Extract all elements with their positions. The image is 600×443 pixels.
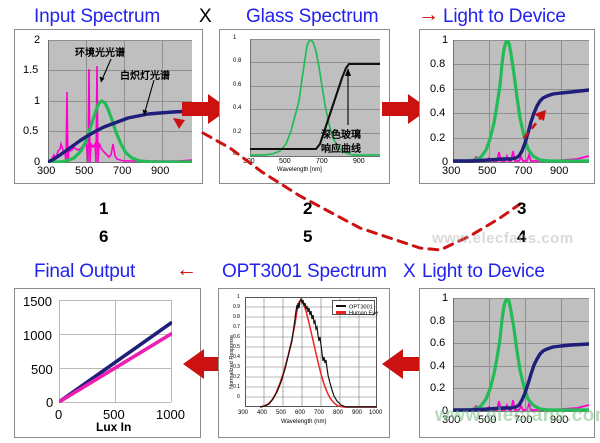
- watermark-bottom-right: www.elecfans.com: [435, 405, 600, 427]
- legend-label-human-eye: Human Eye: [349, 310, 378, 316]
- step-number-1: 1: [99, 199, 108, 219]
- ytick-final-1500: 1500: [23, 294, 52, 309]
- watermark-middle-right: www.elecfans.com: [432, 230, 574, 247]
- xaxis-label-opt3001: Wavelength (nm): [281, 419, 326, 425]
- ytick-ltd-bot-0p2: 0.2: [430, 382, 445, 394]
- xtick-opt-900: 900: [352, 410, 362, 416]
- xtick-opt-300: 300: [238, 410, 248, 416]
- ytick-opt-0p5: 0.5: [233, 344, 240, 350]
- step-number-5: 5: [303, 227, 312, 247]
- xtick-opt-600: 600: [295, 410, 305, 416]
- xtick-opt-800: 800: [333, 410, 343, 416]
- xtick-final-1000: 1000: [156, 407, 185, 422]
- ytick-ltd-bot-1: 1: [442, 292, 448, 304]
- ytick-opt-0p3: 0.3: [233, 364, 240, 370]
- ytick-opt-0p1: 0.1: [233, 384, 240, 390]
- ytick-final-0: 0: [46, 395, 53, 410]
- title-final-output: Final Output: [34, 261, 135, 283]
- ytick-ltd-bot-0p6: 0.6: [430, 337, 445, 349]
- yaxis-label-opt3001: Normalized Response: [229, 335, 235, 389]
- xtick-final-0: 0: [55, 407, 62, 422]
- ytick-opt-0p9: 0.9: [233, 304, 240, 310]
- operator-multiply-row2: X: [403, 261, 416, 283]
- ytick-opt-0p4: 0.4: [233, 354, 240, 360]
- xtick-opt-700: 700: [314, 410, 324, 416]
- chart-panel-opt3001-spectrum: OPT3001 Human Eye Normalized Response 1 …: [218, 288, 390, 438]
- step-number-2: 2: [303, 199, 312, 219]
- xaxis-label-final-output: Lux In: [96, 420, 131, 434]
- ytick-opt-0p8: 0.8: [233, 314, 240, 320]
- title-light-to-device-bottom: Light to Device: [422, 261, 545, 283]
- legend-opt3001: OPT3001 Human Eye: [332, 300, 375, 315]
- xtick-opt-400: 400: [257, 410, 267, 416]
- ytick-opt-0p7: 0.7: [233, 324, 240, 330]
- ytick-opt-0p6: 0.6: [233, 334, 240, 340]
- title-opt3001-spectrum: OPT3001 Spectrum: [222, 261, 387, 283]
- xtick-opt-1000: 1000: [369, 410, 382, 416]
- step-number-6: 6: [99, 227, 108, 247]
- operator-arrow-row2: ←: [176, 258, 197, 282]
- ytick-opt-1: 1: [237, 294, 240, 300]
- chart-panel-final-output: 1500 1000 500 0 0 500 1000 Lux In: [14, 288, 201, 438]
- ytick-final-500: 500: [31, 362, 53, 377]
- plot-curves-final-output: [59, 300, 172, 403]
- plot-curves-ltd-bottom: [453, 298, 589, 412]
- ytick-ltd-bot-0p8: 0.8: [430, 315, 445, 327]
- ytick-opt-0p2: 0.2: [233, 374, 240, 380]
- xtick-opt-500: 500: [276, 410, 286, 416]
- ytick-opt-0: 0: [237, 394, 240, 400]
- ytick-ltd-bot-0p4: 0.4: [430, 360, 445, 372]
- step-number-3: 3: [517, 199, 526, 219]
- ytick-final-1000: 1000: [23, 328, 52, 343]
